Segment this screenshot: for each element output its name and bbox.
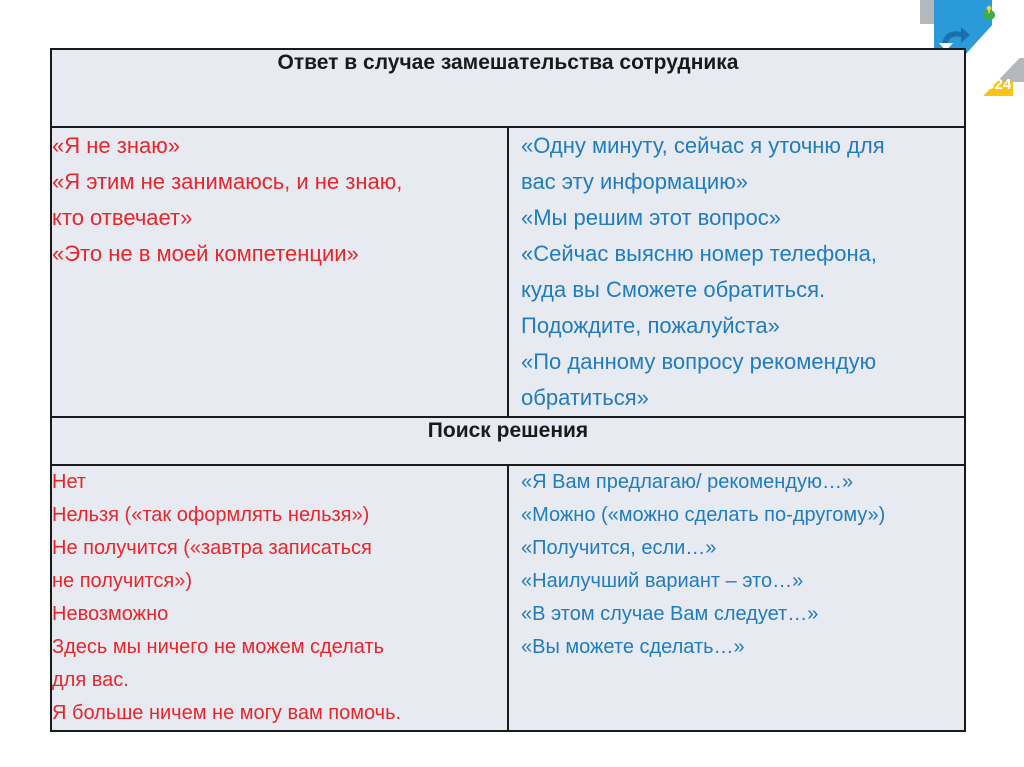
table-row-header-1: Ответ в случае замешательства сотрудника xyxy=(51,49,965,127)
phrase-line: «Я Вам предлагаю/ рекомендую…» xyxy=(521,466,964,499)
phrase-line: Нельзя («так оформлять нельзя») xyxy=(52,499,507,532)
speech-modules-table: Ответ в случае замешательства сотрудника… xyxy=(50,48,966,732)
phrase-line: «Я не знаю» xyxy=(52,128,507,164)
section-header-title-1: Ответ в случае замешательства сотрудника xyxy=(52,50,964,76)
phrase-line: Невозможно xyxy=(52,598,507,631)
phrase-line: Я больше ничем не могу вам помочь. xyxy=(52,697,507,730)
positive-phrases-cell-2: «Я Вам предлагаю/ рекомендую…» «Можно («… xyxy=(508,465,965,731)
phrase-line: обратиться» xyxy=(521,380,964,416)
phrase-line: Подождите, пожалуйста» xyxy=(521,308,964,344)
negative-phrases-cell-1: «Я не знаю» «Я этим не занимаюсь, и не з… xyxy=(51,127,508,417)
phrase-line: вас эту информацию» xyxy=(521,164,964,200)
negative-phrases-cell-2: Нет Нельзя («так оформлять нельзя») Не п… xyxy=(51,465,508,731)
coat-of-arms-icon xyxy=(982,5,996,22)
phrase-line: Здесь мы ничего не можем сделать xyxy=(52,631,507,664)
section-header-cell-1: Ответ в случае замешательства сотрудника xyxy=(51,49,965,127)
phrase-line: кто отвечает» xyxy=(52,200,507,236)
phrase-line: Не получится («завтра записаться xyxy=(52,532,507,565)
positive-phrases-cell-1: «Одну минуту, сейчас я уточню для вас эт… xyxy=(508,127,965,417)
phrase-line: «Мы решим этот вопрос» xyxy=(521,200,964,236)
phrase-line: «Одну минуту, сейчас я уточню для xyxy=(521,128,964,164)
phrase-line: «Сейчас выясню номер телефона, xyxy=(521,236,964,272)
table-row-body-1: «Я не знаю» «Я этим не занимаюсь, и не з… xyxy=(51,127,965,417)
phrase-line: Нет xyxy=(52,466,507,499)
phrase-line: «В этом случае Вам следует…» xyxy=(521,598,964,631)
phrase-line: «Получится, если…» xyxy=(521,532,964,565)
speech-modules-table-container: Ответ в случае замешательства сотрудника… xyxy=(50,48,964,729)
phrase-line: для вас. xyxy=(52,664,507,697)
phrase-line: «Вы можете сделать…» xyxy=(521,631,964,664)
logo-year: 1924 xyxy=(978,76,1011,93)
phrase-line: «Я этим не занимаюсь, и не знаю, xyxy=(52,164,507,200)
phrase-line: куда вы Сможете обратиться. xyxy=(521,272,964,308)
section-header-title-2: Поиск решения xyxy=(52,418,964,444)
section-header-cell-2: Поиск решения xyxy=(51,417,965,465)
table-row-header-2: Поиск решения xyxy=(51,417,965,465)
phrase-line: «Это не в моей компетенции» xyxy=(52,236,507,272)
phrase-line: «Наилучший вариант – это…» xyxy=(521,565,964,598)
phrase-line: «По данному вопросу рекомендую xyxy=(521,344,964,380)
table-row-body-2: Нет Нельзя («так оформлять нельзя») Не п… xyxy=(51,465,965,731)
phrase-line: не получится») xyxy=(52,565,507,598)
phrase-line: «Можно («можно сделать по-другому») xyxy=(521,499,964,532)
